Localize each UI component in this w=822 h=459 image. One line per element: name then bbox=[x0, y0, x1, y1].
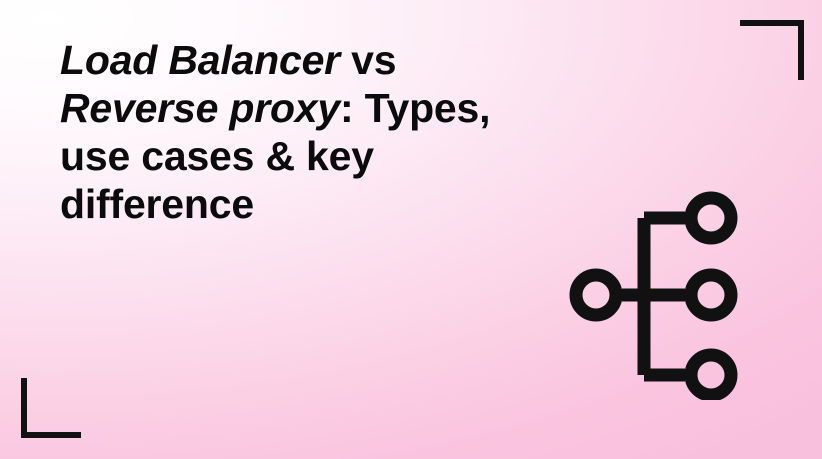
title-line-2-italic: Reverse proxy bbox=[60, 85, 340, 131]
bracket-vertical-rule bbox=[21, 378, 27, 438]
network-topology-icon bbox=[560, 185, 755, 400]
title-line-4-upright: difference bbox=[60, 181, 254, 227]
node-branch-top bbox=[691, 198, 731, 238]
title-line-1-upright: vs bbox=[340, 37, 396, 83]
title-line-2: Reverse proxy: Types, bbox=[60, 84, 760, 132]
node-branch-bottom bbox=[691, 355, 731, 395]
title-line-1: Load Balancer vs bbox=[60, 36, 760, 84]
banner-card: Load Balancer vs Reverse proxy: Types, u… bbox=[0, 0, 822, 459]
corner-bracket-top-right-icon bbox=[740, 20, 804, 80]
title-line-2-upright: : Types, bbox=[340, 85, 490, 131]
bracket-horizontal-rule bbox=[21, 432, 81, 438]
title-line-3: use cases & key bbox=[60, 132, 760, 180]
corner-bracket-bottom-left-icon bbox=[21, 378, 81, 438]
bracket-vertical-rule bbox=[798, 20, 804, 80]
title-line-3-upright: use cases & key bbox=[60, 133, 374, 179]
node-source bbox=[576, 275, 616, 315]
title-line-1-italic: Load Balancer bbox=[60, 37, 340, 83]
bracket-horizontal-rule bbox=[740, 20, 804, 26]
node-branch-middle bbox=[691, 275, 731, 315]
